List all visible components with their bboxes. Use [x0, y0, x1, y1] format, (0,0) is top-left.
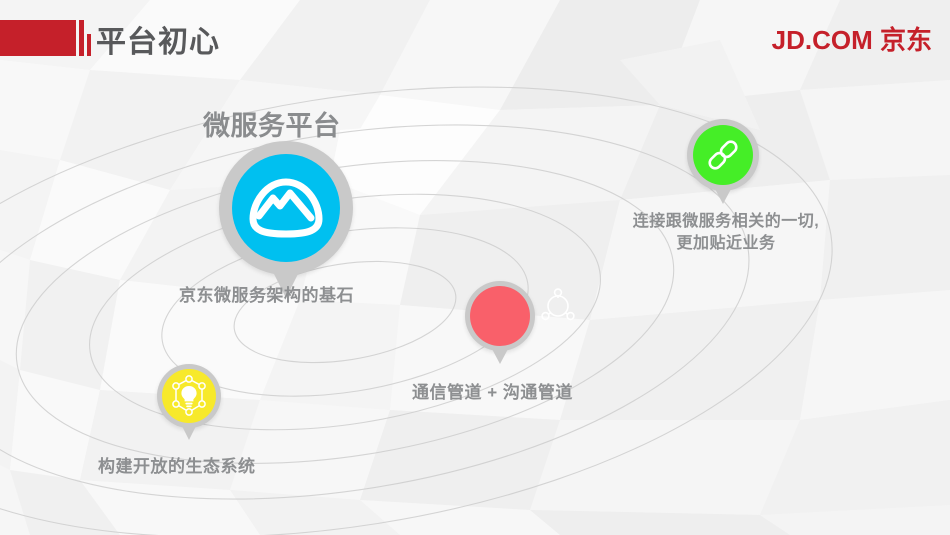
lightbulb-network-icon: [169, 375, 209, 417]
main-heading: 微服务平台: [203, 104, 341, 143]
node-green-label-line1: 连接跟微服务相关的一切,: [633, 213, 819, 230]
link-icon: [703, 135, 743, 175]
pin-tail-green: [715, 189, 731, 204]
network-node-icon: [541, 288, 575, 324]
node-yellow-ecosystem[interactable]: [157, 364, 221, 428]
pin-ring-blue: [219, 141, 353, 275]
mountain-icon: [249, 176, 323, 240]
slide-canvas: 平台初心 JD.COM 京东 微服务平台 京东微服务架构的基石: [0, 0, 950, 535]
header-red-bar-short: [87, 34, 91, 56]
node-green-connect[interactable]: [687, 119, 759, 191]
node-red-label: 通信管道 + 沟通管道: [412, 378, 573, 403]
header-red-bar-tall: [79, 20, 84, 56]
pin-fill-blue: [232, 154, 340, 262]
pin-ring-green: [687, 119, 759, 191]
pin-fill-green: [693, 125, 753, 185]
node-green-label-line2: 更加贴近业务: [676, 235, 775, 252]
pin-ring-red: [465, 281, 535, 351]
node-blue-microservice-platform[interactable]: [219, 141, 353, 275]
pin-tail-red: [492, 349, 508, 364]
slide-header: 平台初心 JD.COM 京东: [0, 0, 950, 75]
node-blue-label: 京东微服务架构的基石: [179, 281, 354, 306]
pin-tail-yellow: [182, 426, 196, 440]
jd-brand-logo: JD.COM 京东: [772, 20, 932, 57]
pin-fill-yellow: [162, 369, 216, 423]
header-red-block: [0, 20, 76, 56]
page-title: 平台初心: [96, 17, 220, 61]
node-red-communication-pipe[interactable]: [465, 281, 535, 351]
pin-fill-red: [470, 286, 530, 346]
pin-ring-yellow: [157, 364, 221, 428]
node-green-label: 连接跟微服务相关的一切, 更加贴近业务: [613, 211, 839, 255]
node-yellow-label: 构建开放的生态系统: [98, 452, 256, 477]
